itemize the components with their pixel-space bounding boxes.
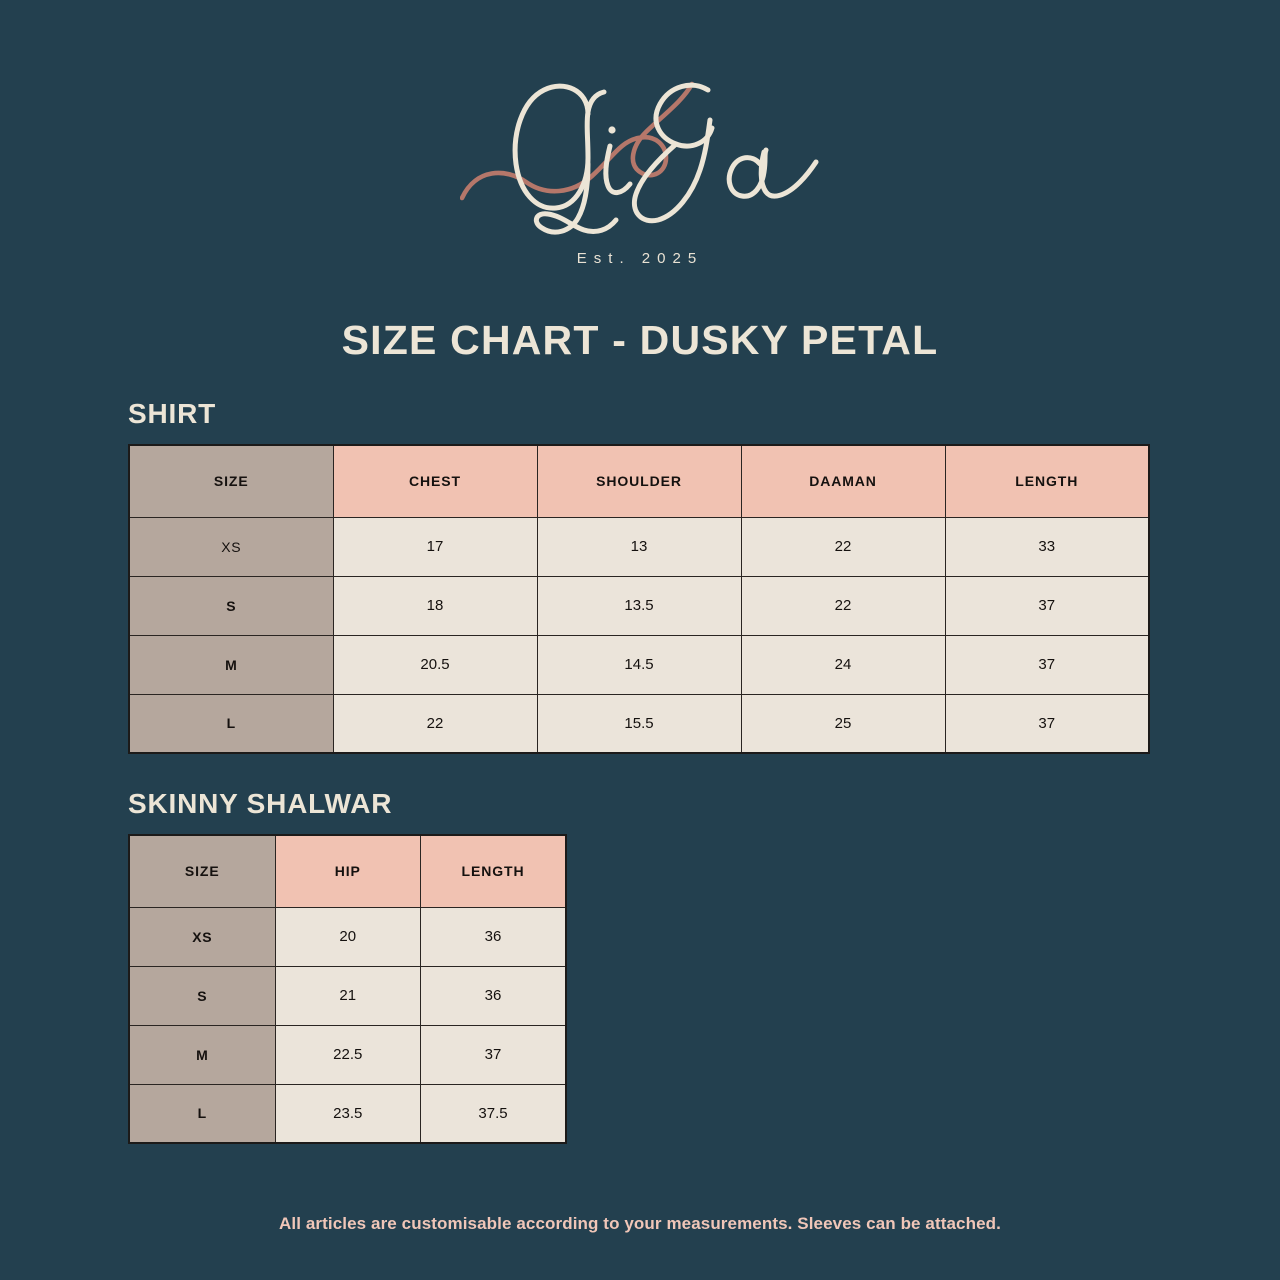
cell-length: 37 <box>421 1025 567 1084</box>
section-skinny-shalwar: SKINNY SHALWAR SIZE HIP LENGTH XS 20 36 … <box>0 788 1280 1144</box>
cell-hip: 21 <box>275 966 421 1025</box>
column-header-daaman: DAAMAN <box>741 445 945 517</box>
section-heading-shirt: SHIRT <box>128 398 1280 430</box>
table-row: L 23.5 37.5 <box>129 1084 566 1143</box>
column-header-size: SIZE <box>129 445 333 517</box>
cell-daaman: 22 <box>741 517 945 576</box>
cell-length: 37 <box>945 635 1149 694</box>
skinny-shalwar-size-table: SIZE HIP LENGTH XS 20 36 S 21 36 M 22.5 … <box>128 834 567 1144</box>
brand-logo-area: Est. 2025 <box>0 0 1280 267</box>
column-header-chest: CHEST <box>333 445 537 517</box>
column-header-shoulder: SHOULDER <box>537 445 741 517</box>
section-heading-skinny-shalwar: SKINNY SHALWAR <box>128 788 1280 820</box>
table-header-row: SIZE CHEST SHOULDER DAAMAN LENGTH <box>129 445 1149 517</box>
established-year: Est. 2025 <box>577 250 703 267</box>
cell-length: 37.5 <box>421 1084 567 1143</box>
cell-chest: 18 <box>333 576 537 635</box>
cell-hip: 23.5 <box>275 1084 421 1143</box>
cell-size: L <box>129 1084 275 1143</box>
table-row: M 20.5 14.5 24 37 <box>129 635 1149 694</box>
table-row: XS 20 36 <box>129 907 566 966</box>
column-header-hip: HIP <box>275 835 421 907</box>
cell-daaman: 24 <box>741 635 945 694</box>
table-row: M 22.5 37 <box>129 1025 566 1084</box>
section-shirt: SHIRT SIZE CHEST SHOULDER DAAMAN LENGTH … <box>0 398 1280 754</box>
qisa-script-logo-icon <box>460 72 820 242</box>
table-header-row: SIZE HIP LENGTH <box>129 835 566 907</box>
cell-chest: 22 <box>333 694 537 753</box>
cell-size: S <box>129 966 275 1025</box>
cell-length: 36 <box>421 966 567 1025</box>
cell-shoulder: 13 <box>537 517 741 576</box>
page-title: SIZE CHART - DUSKY PETAL <box>0 317 1280 364</box>
cell-hip: 20 <box>275 907 421 966</box>
table-row: XS 17 13 22 33 <box>129 517 1149 576</box>
column-header-length: LENGTH <box>421 835 567 907</box>
cell-shoulder: 14.5 <box>537 635 741 694</box>
cell-size: S <box>129 576 333 635</box>
table-row: S 18 13.5 22 37 <box>129 576 1149 635</box>
column-header-size: SIZE <box>129 835 275 907</box>
cell-size: XS <box>129 517 333 576</box>
cell-length: 33 <box>945 517 1149 576</box>
column-header-length: LENGTH <box>945 445 1149 517</box>
footer-note: All articles are customisable according … <box>0 1214 1280 1234</box>
cell-daaman: 25 <box>741 694 945 753</box>
cell-hip: 22.5 <box>275 1025 421 1084</box>
cell-size: M <box>129 1025 275 1084</box>
shirt-size-table: SIZE CHEST SHOULDER DAAMAN LENGTH XS 17 … <box>128 444 1150 754</box>
cell-daaman: 22 <box>741 576 945 635</box>
cell-size: L <box>129 694 333 753</box>
cell-length: 37 <box>945 576 1149 635</box>
cell-length: 37 <box>945 694 1149 753</box>
table-row: L 22 15.5 25 37 <box>129 694 1149 753</box>
cell-length: 36 <box>421 907 567 966</box>
table-row: S 21 36 <box>129 966 566 1025</box>
cell-chest: 20.5 <box>333 635 537 694</box>
cell-chest: 17 <box>333 517 537 576</box>
cell-shoulder: 15.5 <box>537 694 741 753</box>
cell-size: XS <box>129 907 275 966</box>
cell-shoulder: 13.5 <box>537 576 741 635</box>
cell-size: M <box>129 635 333 694</box>
